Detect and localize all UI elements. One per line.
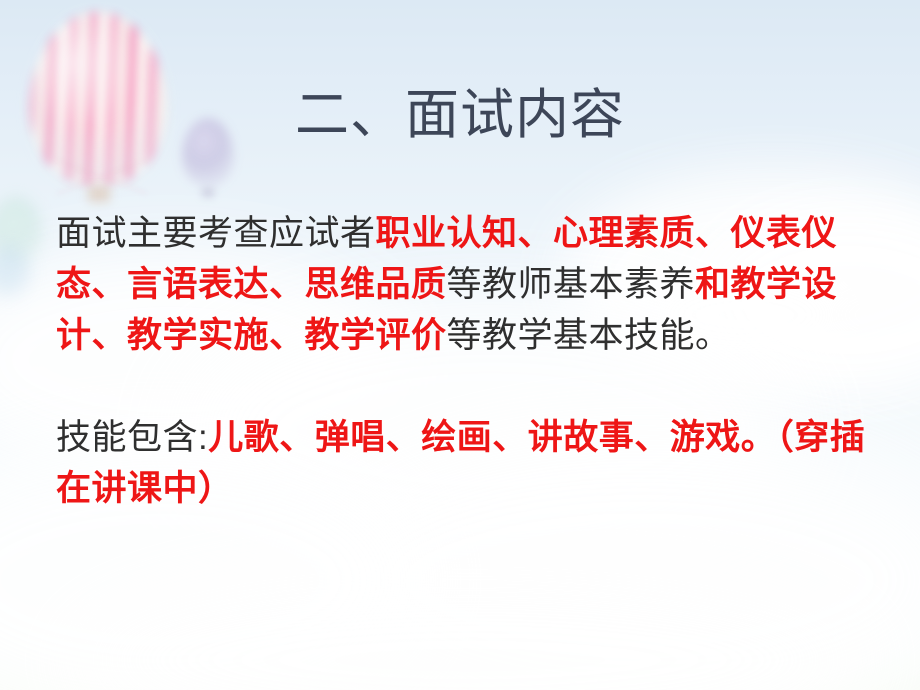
slide-canvas: 二、面试内容 面试主要考查应试者职业认知、心理素质、仪表仪态、言语表达、思维品质…: [0, 0, 920, 690]
hot-air-balloon-mint-icon: [0, 196, 44, 268]
cloud-icon: [60, 560, 880, 690]
slide-title: 二、面试内容: [0, 85, 920, 145]
balloon-basket-icon: [202, 188, 214, 197]
text-run: 等教学基本技能。: [447, 316, 731, 355]
slide-body: 面试主要考查应试者职业认知、心理素质、仪表仪态、言语表达、思维品质等教师基本素养…: [56, 208, 868, 514]
hot-air-balloon-blue-icon: [0, 246, 32, 302]
balloon-ropes-icon: [56, 160, 148, 194]
text-run: 面试主要考查应试者: [56, 214, 376, 253]
text-run: 等教师基本素养: [447, 265, 696, 304]
paragraph-1: 面试主要考查应试者职业认知、心理素质、仪表仪态、言语表达、思维品质等教师基本素养…: [56, 208, 868, 361]
text-run: 技能包含:: [56, 418, 208, 457]
balloon-basket-icon: [88, 186, 110, 202]
paragraph-2: 技能包含:儿歌、弹唱、绘画、讲故事、游戏。（穿插在讲课中）: [56, 412, 868, 514]
